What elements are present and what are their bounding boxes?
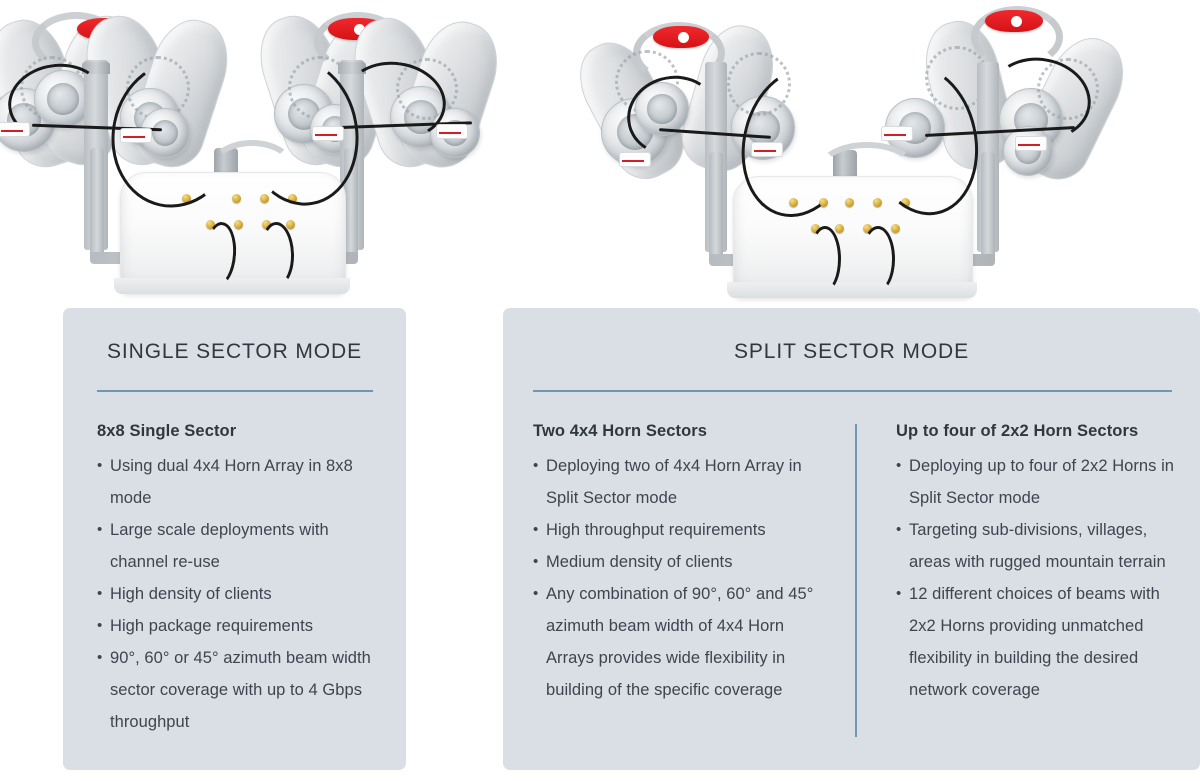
rf-port-6 xyxy=(234,220,243,229)
panel-title-rule-right xyxy=(533,390,1172,392)
rf-port-8 xyxy=(286,220,295,229)
panel-split-sector-mode: SPLIT SECTOR MODE Two 4x4 Horn Sectors D… xyxy=(503,308,1200,770)
list-item: 12 different choices of beams with 2x2 H… xyxy=(896,578,1186,706)
column-heading-4x4: Two 4x4 Horn Sectors xyxy=(533,422,833,441)
rf-port-s4 xyxy=(873,198,882,207)
rf-port-2 xyxy=(232,194,241,203)
rf-port-s7 xyxy=(835,224,844,233)
product-photo-strip xyxy=(0,0,1200,320)
column-two-4x4-horn-sectors: Two 4x4 Horn Sectors Deploying two of 4x… xyxy=(533,422,833,706)
list-item: Deploying up to four of 2x2 Horns in Spl… xyxy=(896,450,1186,514)
mount-bracket-split-right xyxy=(981,152,995,264)
enclosure-lip xyxy=(114,278,350,294)
column-heading-2x2: Up to four of 2x2 Horn Sectors xyxy=(896,422,1186,441)
list-item: High throughput requirements xyxy=(533,514,833,546)
list-item: Targeting sub-divisions, villages, areas… xyxy=(896,514,1186,578)
red-lift-handle-split-left xyxy=(653,26,709,48)
column-up-to-four-2x2-horn-sectors: Up to four of 2x2 Horn Sectors Deploying… xyxy=(896,422,1186,706)
bullet-list-4x4: Deploying two of 4x4 Horn Array in Split… xyxy=(533,450,833,706)
red-lift-handle-split-right xyxy=(985,10,1043,32)
antenna-label-s4 xyxy=(1015,136,1047,151)
rf-port-3 xyxy=(260,194,269,203)
panel-title-rule-left xyxy=(97,390,373,392)
list-item: High density of clients xyxy=(97,578,387,610)
column-8x8-single-sector: 8x8 Single Sector Using dual 4x4 Horn Ar… xyxy=(97,422,387,738)
list-item: Medium density of clients xyxy=(533,546,833,578)
mount-bracket-left xyxy=(90,148,104,262)
product-image-single-sector xyxy=(0,0,512,320)
list-item: Deploying two of 4x4 Horn Array in Split… xyxy=(533,450,833,514)
antenna-label-1 xyxy=(0,122,30,137)
list-item: Any combination of 90°, 60° and 45° azim… xyxy=(533,578,833,706)
panel-single-sector-mode: SINGLE SECTOR MODE 8x8 Single Sector Usi… xyxy=(63,308,406,770)
bullet-list-8x8: Using dual 4x4 Horn Array in 8x8 mode La… xyxy=(97,450,387,738)
rf-cable-loop-s2 xyxy=(861,226,895,292)
rf-port-s3 xyxy=(845,198,854,207)
rf-port-s9 xyxy=(891,224,900,233)
antenna-label-2 xyxy=(120,128,152,143)
panel-title-single-sector: SINGLE SECTOR MODE xyxy=(63,340,406,364)
list-item: Large scale deployments with channel re-… xyxy=(97,514,387,578)
rf-cable-loop-s1 xyxy=(809,226,841,292)
mount-bracket-split-left xyxy=(709,152,723,264)
column-divider xyxy=(855,424,857,737)
antenna-label-3 xyxy=(312,126,344,141)
antenna-label-s2 xyxy=(751,142,783,157)
column-heading-8x8: 8x8 Single Sector xyxy=(97,422,387,441)
antenna-label-4 xyxy=(436,124,468,139)
list-item: High package requirements xyxy=(97,610,387,642)
antenna-label-s1 xyxy=(619,152,651,167)
bullet-list-2x2: Deploying up to four of 2x2 Horns in Spl… xyxy=(896,450,1186,706)
antenna-label-s3 xyxy=(881,126,913,141)
panel-title-split-sector: SPLIT SECTOR MODE xyxy=(503,340,1200,364)
product-image-split-sector xyxy=(585,0,1200,320)
enclosure-lip-split xyxy=(727,282,977,298)
list-item: 90°, 60° or 45° azimuth beam width secto… xyxy=(97,642,387,738)
list-item: Using dual 4x4 Horn Array in 8x8 mode xyxy=(97,450,387,514)
